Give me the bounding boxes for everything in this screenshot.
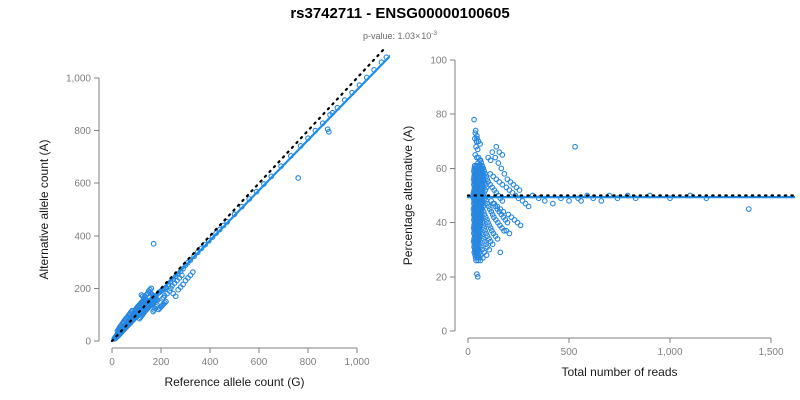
p-value-prefix: p-value: 1.03 [363,31,415,41]
x-axis-title: Total number of reads [561,365,677,379]
y-tick-label: 60 [436,164,448,175]
p-value-exponent: -3 [431,30,437,37]
y-axis-title: Alternative allele count (A) [37,139,51,279]
page-title: rs3742711 - ENSG00000100605 [290,5,509,22]
x-tick-label: 1,000 [657,347,682,358]
y-tick-label: 40 [436,218,448,229]
x-tick-label: 0 [109,357,115,368]
y-tick-label: 600 [74,179,91,190]
x-tick-label: 800 [300,357,317,368]
scatter-plot-figure: rs3742711 - ENSG00000100605 p-value: 1.0… [0,0,800,400]
y-tick-label: 1,000 [66,74,91,85]
x-axis-title: Reference allele count (G) [164,375,304,389]
y-tick-label: 400 [74,231,91,242]
x-tick-label: 1,500 [758,347,783,358]
p-value-times-symbol: × [415,31,420,41]
x-tick-label: 500 [561,347,578,358]
x-tick-label: 400 [202,357,219,368]
y-tick-label: 800 [74,126,91,137]
y-tick-label: 200 [74,284,91,295]
y-axis-title: Percentage alternative (A) [401,126,415,265]
x-tick-label: 1,000 [344,357,369,368]
y-tick-label: 100 [430,56,447,67]
x-tick-label: 600 [251,357,268,368]
x-tick-label: 200 [153,357,170,368]
y-tick-label: 20 [436,272,448,283]
y-tick-label: 80 [436,110,448,121]
x-tick-label: 0 [465,347,471,358]
figure-background [0,0,800,400]
p-value-base: 10 [421,31,431,41]
y-tick-label: 0 [441,327,447,338]
y-tick-label: 0 [85,337,91,348]
p-value-subtitle: p-value: 1.03×10-3 [363,30,437,41]
